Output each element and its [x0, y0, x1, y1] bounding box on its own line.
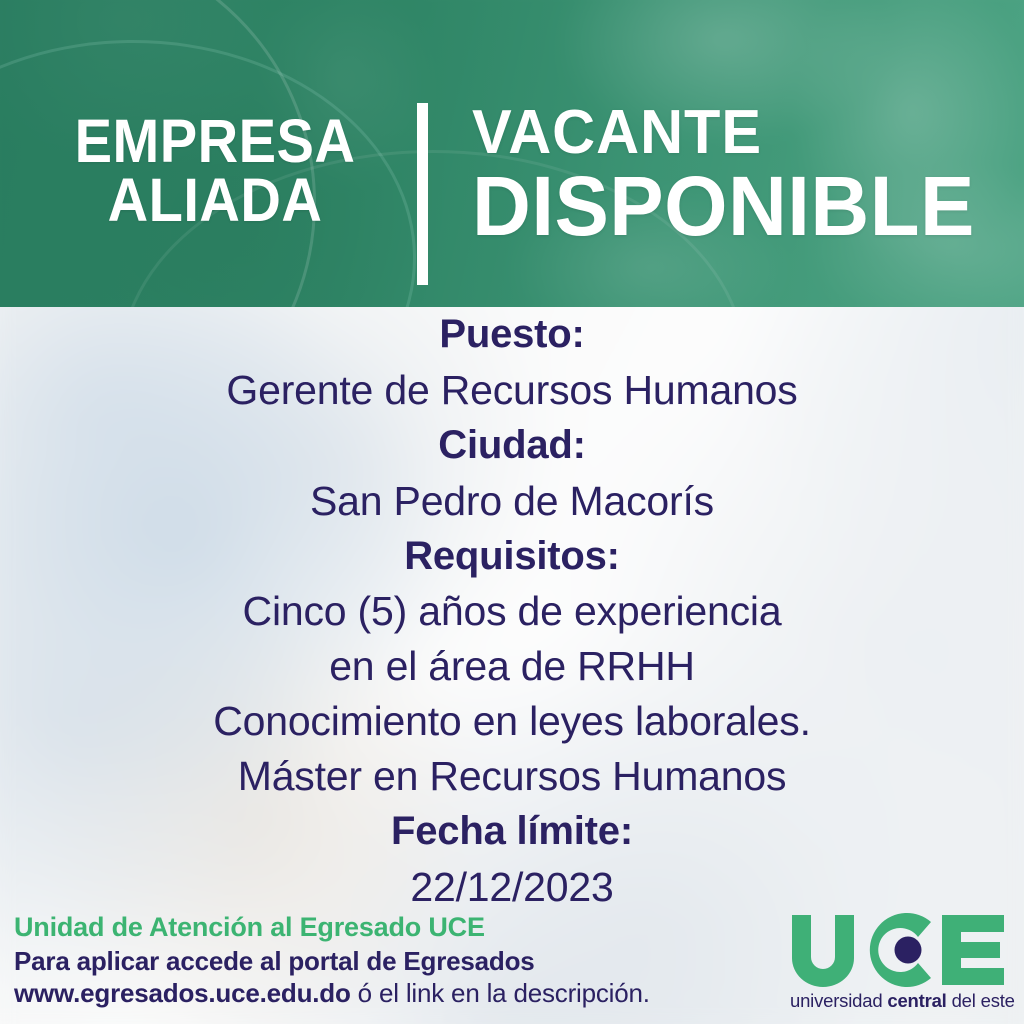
requisitos-line-4: Máster en Recursos Humanos: [0, 749, 1024, 804]
tagline-bold: central: [887, 990, 946, 1011]
requisitos-label: Requisitos:: [0, 529, 1024, 584]
empresa-line-1: EMPRESA: [54, 112, 376, 171]
uce-logo-tagline: universidad central del este: [790, 990, 1006, 1012]
disponible-word: DISPONIBLE: [472, 167, 975, 247]
footer-contact-block: Unidad de Atención al Egresado UCE Para …: [14, 910, 650, 1010]
vacante-word: VACANTE: [472, 104, 970, 163]
empresa-aliada-title: EMPRESA ALIADA: [54, 112, 376, 230]
footer-unit-line: Unidad de Atención al Egresado UCE: [14, 910, 650, 944]
tagline-part-1: universidad: [790, 990, 887, 1011]
footer-url-line: www.egresados.uce.edu.do ó el link en la…: [14, 977, 650, 1010]
uce-logomark-icon: [790, 913, 1006, 987]
uce-logo: universidad central del este: [790, 913, 1006, 1012]
footer-apply-line: Para aplicar accede al portal de Egresad…: [14, 945, 650, 978]
header-content: EMPRESA ALIADA VACANTE DISPONIBLE: [0, 0, 1024, 307]
requisitos-line-3: Conocimiento en leyes laborales.: [0, 694, 1024, 749]
puesto-label: Puesto:: [0, 307, 1024, 362]
empresa-line-2: ALIADA: [54, 171, 376, 230]
footer-url-suffix: ó el link en la descripción.: [351, 978, 650, 1008]
vacancy-details: Puesto: Gerente de Recursos Humanos Ciud…: [0, 307, 1024, 915]
requisitos-line-1: Cinco (5) años de experiencia: [0, 584, 1024, 639]
fecha-limite-value: 22/12/2023: [0, 859, 1024, 915]
footer-url[interactable]: www.egresados.uce.edu.do: [14, 978, 351, 1008]
ciudad-value: San Pedro de Macorís: [0, 473, 1024, 529]
vertical-divider: [417, 103, 428, 285]
requisitos-line-2: en el área de RRHH: [0, 639, 1024, 694]
tagline-part-2: del este: [947, 990, 1015, 1011]
header-banner: EMPRESA ALIADA VACANTE DISPONIBLE: [0, 0, 1024, 307]
puesto-value: Gerente de Recursos Humanos: [0, 362, 1024, 418]
vacante-disponible-title: VACANTE DISPONIBLE: [472, 104, 990, 247]
fecha-limite-label: Fecha límite:: [0, 804, 1024, 859]
ciudad-label: Ciudad:: [0, 418, 1024, 473]
vacancy-poster: EMPRESA ALIADA VACANTE DISPONIBLE Puesto…: [0, 0, 1024, 1024]
